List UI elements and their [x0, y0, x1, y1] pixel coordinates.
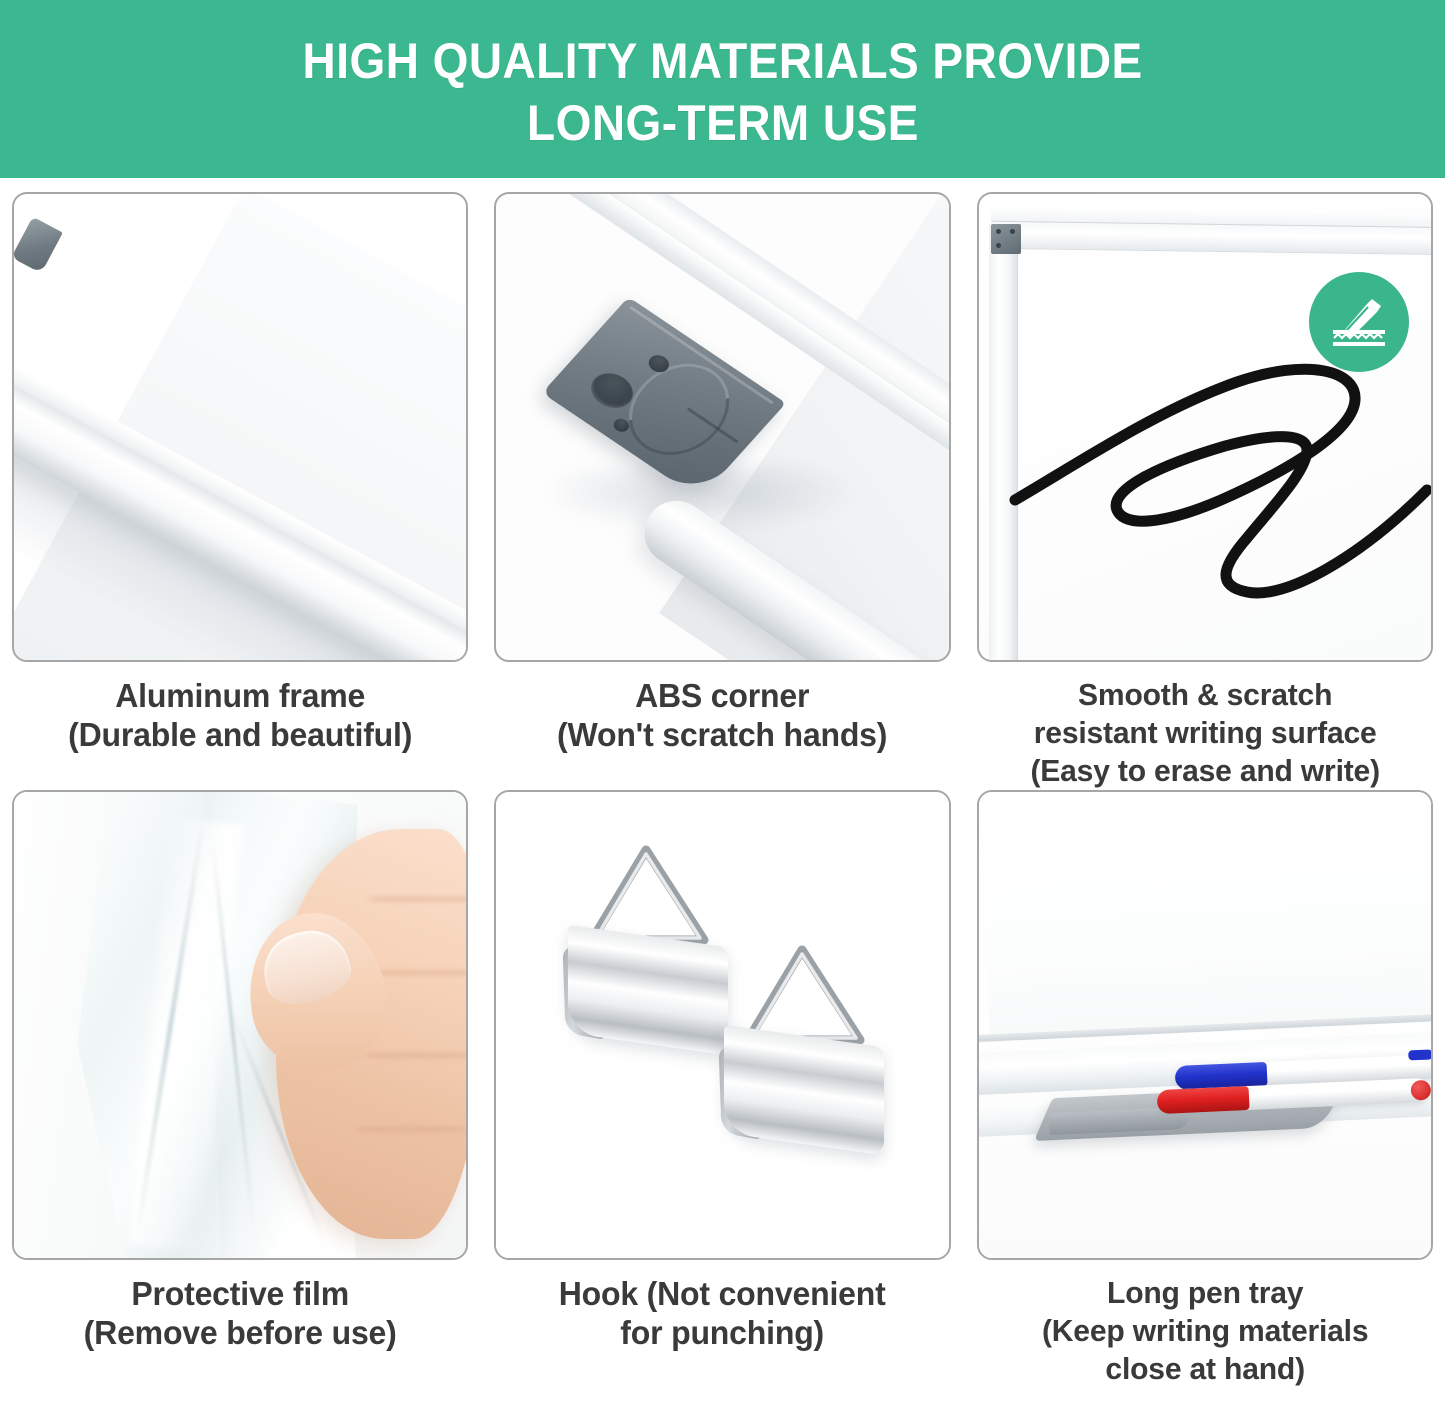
feature-card-abs-corner: ABS corner (Won't scratch hands)	[494, 192, 950, 790]
caption-line-1: Aluminum frame	[19, 676, 462, 715]
caption-abs-corner: ABS corner (Won't scratch hands)	[501, 662, 944, 754]
feature-grid: Aluminum frame (Durable and beautiful) A…	[0, 178, 1445, 1388]
header-banner: HIGH QUALITY MATERIALS PROVIDE LONG-TERM…	[0, 0, 1445, 178]
marker-blue-clip	[1408, 1049, 1432, 1060]
bracket-hole-3	[996, 243, 1001, 248]
feature-card-protective-film: Protective film (Remove before use)	[12, 790, 468, 1388]
caption-line-3: (Easy to erase and write)	[984, 752, 1427, 790]
scratch-resistant-badge	[1309, 272, 1409, 372]
caption-line-2: (Won't scratch hands)	[501, 715, 944, 754]
marker-red-cap	[1156, 1086, 1249, 1114]
hook-photo	[494, 790, 950, 1260]
protective-film-photo	[12, 790, 468, 1260]
caption-line-2: (Remove before use)	[19, 1313, 462, 1352]
bracket-hole-1	[996, 229, 1001, 234]
banner-headline-line-1: HIGH QUALITY MATERIALS PROVIDE	[302, 30, 1142, 92]
caption-aluminum-frame: Aluminum frame (Durable and beautiful)	[19, 662, 462, 754]
banner-headline-line-2: LONG-TERM USE	[527, 92, 919, 154]
caption-line-1: Smooth & scratch	[984, 676, 1427, 714]
caption-writing-surface: Smooth & scratch resistant writing surfa…	[984, 662, 1427, 790]
abs-corner-tip-icon	[12, 217, 63, 274]
aluminum-frame-photo	[12, 192, 468, 662]
caption-hook: Hook (Not convenient for punching)	[501, 1260, 944, 1352]
abs-corner-photo	[494, 192, 950, 662]
caption-line-1: Long pen tray	[984, 1274, 1427, 1312]
feature-card-writing-surface: Smooth & scratch resistant writing surfa…	[977, 192, 1433, 790]
feature-card-pen-tray: Long pen tray (Keep writing materials cl…	[977, 790, 1433, 1388]
pen-on-surface-icon	[1327, 290, 1391, 354]
pen-tray-photo	[977, 790, 1433, 1260]
caption-line-2: for punching)	[501, 1313, 944, 1352]
caption-line-1: Protective film	[19, 1274, 462, 1313]
corner-arc-detail	[608, 346, 750, 472]
hook-clip-body	[568, 925, 728, 1055]
caption-line-2: (Durable and beautiful)	[19, 715, 462, 754]
caption-line-2: resistant writing surface	[984, 714, 1427, 752]
feature-card-aluminum-frame: Aluminum frame (Durable and beautiful)	[12, 192, 468, 790]
whiteboard-surface	[979, 790, 1433, 1042]
caption-line-1: Hook (Not convenient	[501, 1274, 944, 1313]
frame-corner-bracket	[991, 224, 1021, 254]
bracket-hole-2	[1010, 229, 1015, 234]
caption-line-3: close at hand)	[984, 1350, 1427, 1388]
caption-pen-tray: Long pen tray (Keep writing materials cl…	[984, 1260, 1427, 1388]
writing-surface-photo	[977, 192, 1433, 662]
caption-line-2: (Keep writing materials	[984, 1312, 1427, 1350]
caption-protective-film: Protective film (Remove before use)	[19, 1260, 462, 1352]
feature-card-hook: Hook (Not convenient for punching)	[494, 790, 950, 1388]
hook-clip-body	[724, 1025, 884, 1155]
caption-line-1: ABS corner	[501, 676, 944, 715]
